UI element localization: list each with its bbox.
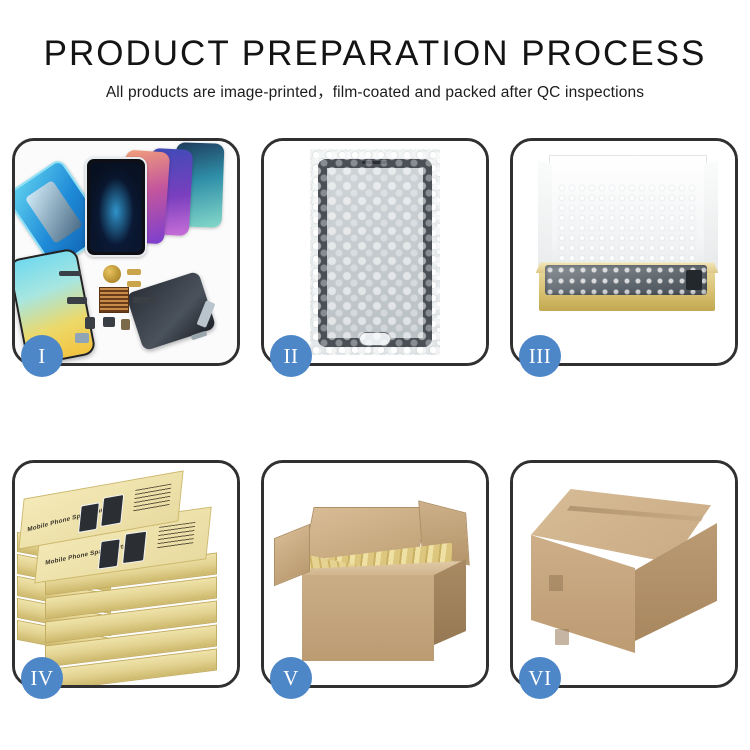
bubble-wrap-sheet [310,149,440,355]
sealed-carton-photo [513,463,735,685]
step-badge-6: VI [519,657,561,699]
sealed-carton-front-face [531,535,635,653]
process-step-6: VI [510,460,738,688]
step-1-image [15,141,237,363]
phone-screens-collage-photo [15,141,237,363]
carton-tape-patch-lower [555,629,569,645]
black-display-phone [85,157,147,257]
page-title: PRODUCT PREPARATION PROCESS [0,33,750,75]
step-5-image [264,463,486,685]
home-button [359,332,391,346]
flex-cable-part-2 [127,281,141,287]
carton-tape-patch-upper [549,575,563,591]
speaker-part [103,317,115,327]
step-2-image [264,141,486,363]
step-badge-3: III [519,335,561,377]
connector-part [59,271,81,276]
stacked-boxes-photo: Mobile Phone Spare Parts Mobile Phone Sp… [15,463,237,685]
chip-array-part [99,287,129,313]
step-3-image [513,141,735,363]
step-6-image [513,463,735,685]
step-badge-1: I [21,335,63,377]
small-module-part [75,333,89,343]
ribbon-part [133,297,155,303]
step-4-image: Mobile Phone Spare Parts Mobile Phone Sp… [15,463,237,685]
box-phone-graphic-b [122,531,147,565]
process-step-2: II [261,138,489,366]
inner-box-photo [513,141,735,363]
process-grid: I II III [12,138,738,688]
process-step-5: V [261,460,489,688]
process-step-1: I [12,138,240,366]
box-phone-graphic-a [98,538,121,569]
carton-front-face [302,575,434,661]
phone-screen-glass [318,159,432,347]
sim-tray-part [121,319,130,330]
box-spec-text-block-middle [157,522,195,549]
process-step-4: Mobile Phone Spare Parts Mobile Phone Sp… [12,460,240,688]
film-coated-screen-photo [264,141,486,363]
box-spec-text-block-top [133,484,171,513]
process-step-3: III [510,138,738,366]
camera-module-part [67,297,87,304]
open-carton-photo [264,463,486,685]
copper-coil-part [103,265,121,283]
box-phone-graphic-c [78,502,100,533]
wrapped-screen-in-box [545,265,707,295]
button-part [85,317,95,329]
foam-liner [557,183,697,269]
box-phone-graphic-d [100,494,124,527]
flex-cable-part [127,269,141,275]
step-badge-5: V [270,657,312,699]
step-badge-4: IV [21,657,63,699]
page-subtitle: All products are image-printed，film-coat… [0,82,750,104]
step-badge-2: II [270,335,312,377]
header: PRODUCT PREPARATION PROCESS All products… [0,0,750,104]
